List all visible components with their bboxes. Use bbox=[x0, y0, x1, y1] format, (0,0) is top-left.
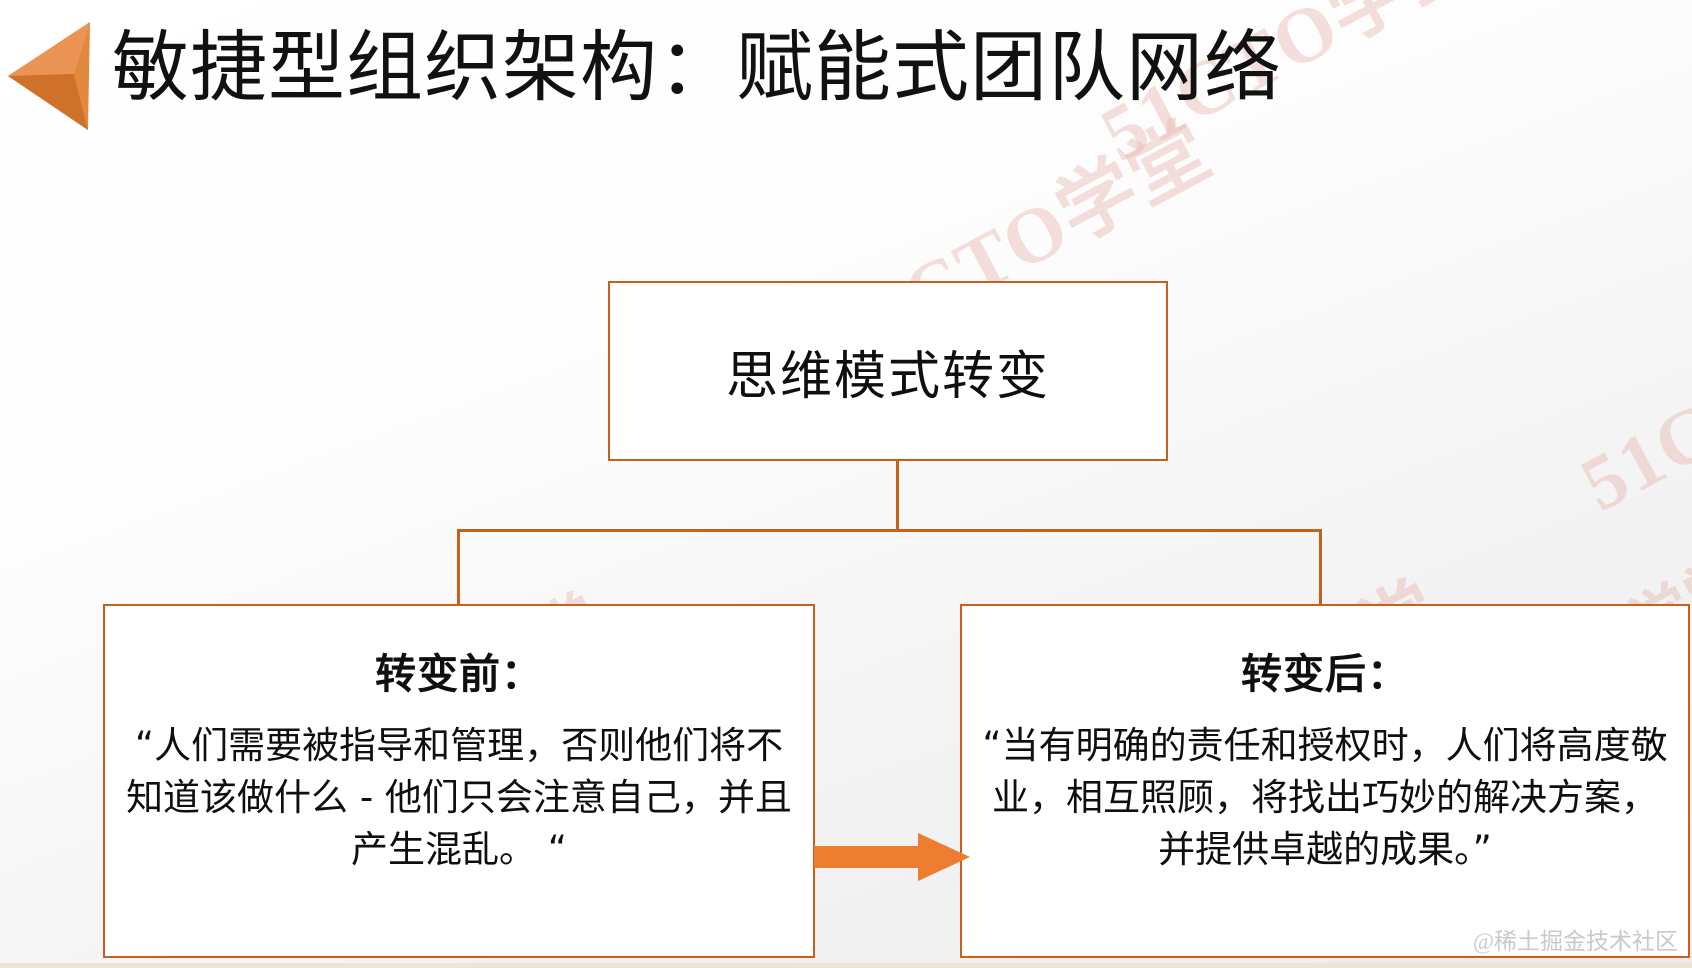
slide-canvas: 51CTO学堂51CTO学堂51CTO学堂51CTO学堂51CTO学堂51CTO… bbox=[0, 0, 1692, 968]
connector-right-vertical bbox=[1319, 529, 1322, 606]
connector-left-vertical bbox=[457, 529, 460, 606]
node-mindset-shift[interactable]: 思维模式转变 bbox=[608, 281, 1168, 461]
connector-top-vertical bbox=[896, 461, 899, 531]
node-before-heading: 转变前： bbox=[105, 640, 813, 700]
bottom-rule bbox=[0, 963, 1692, 968]
node-top-label: 思维模式转变 bbox=[726, 334, 1050, 409]
slide-header: 敏捷型组织架构：赋能式团队网络 bbox=[0, 0, 1692, 150]
credit-watermark: @稀土掘金技术社区 bbox=[1473, 922, 1678, 956]
right-arrow-icon bbox=[814, 833, 970, 881]
watermark-text: 51CTO学堂 bbox=[1558, 239, 1692, 533]
node-before-body: “人们需要被指导和管理，否则他们将不知道该做什么 - 他们只会注意自己，并且产生… bbox=[119, 720, 799, 876]
node-after-heading: 转变后： bbox=[962, 640, 1688, 700]
connector-horizontal bbox=[457, 529, 1322, 532]
page-title: 敏捷型组织架构：赋能式团队网络 bbox=[112, 8, 1282, 130]
triangle-pyramid-icon bbox=[4, 16, 100, 134]
node-before-shift[interactable]: 转变前： “人们需要被指导和管理，否则他们将不知道该做什么 - 他们只会注意自己… bbox=[103, 604, 815, 958]
node-after-body: “当有明确的责任和授权时，人们将高度敬业，相互照顾，将找出巧妙的解决方案，并提供… bbox=[976, 720, 1674, 876]
node-after-shift[interactable]: 转变后： “当有明确的责任和授权时，人们将高度敬业，相互照顾，将找出巧妙的解决方… bbox=[960, 604, 1690, 958]
